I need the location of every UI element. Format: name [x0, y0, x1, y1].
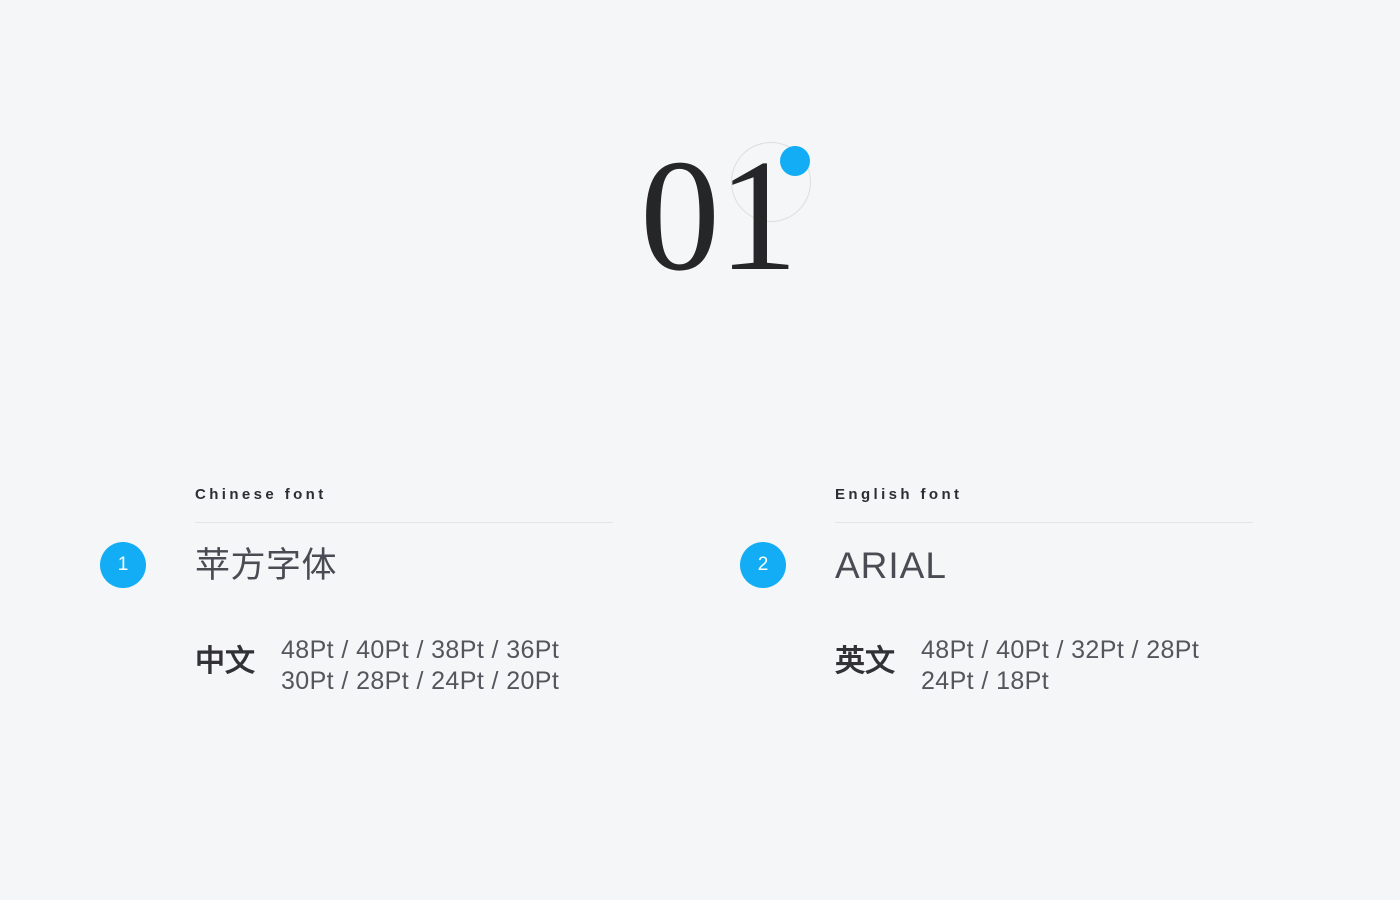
- size-label-english: 英文: [835, 635, 895, 682]
- hero-number-group: 01: [640, 130, 840, 300]
- column-kicker-english: English font: [835, 485, 1255, 505]
- size-list-chinese: 48Pt / 40Pt / 38Pt / 36Pt 30Pt / 28Pt / …: [281, 635, 559, 697]
- font-sample-chinese: 苹方字体: [195, 544, 615, 588]
- column-body-chinese: Chinese font 苹方字体: [195, 485, 615, 588]
- hero-section: 01: [0, 130, 1400, 300]
- column-kicker-chinese: Chinese font: [195, 485, 615, 505]
- size-row: 48Pt / 40Pt / 32Pt / 28Pt: [921, 635, 1199, 666]
- size-row: 30Pt / 28Pt / 24Pt / 20Pt: [281, 666, 559, 697]
- section-number: 01: [640, 130, 840, 300]
- accent-dot-icon: [780, 146, 810, 176]
- size-row: 24Pt / 18Pt: [921, 666, 1199, 697]
- size-label-chinese: 中文: [195, 635, 255, 682]
- column-badge-1: 1: [100, 542, 146, 588]
- size-list-english: 48Pt / 40Pt / 32Pt / 28Pt 24Pt / 18Pt: [921, 635, 1199, 697]
- column-badge-2: 2: [740, 542, 786, 588]
- column-divider-english: [835, 522, 1253, 523]
- column-body-english: English font ARIAL: [835, 485, 1255, 588]
- size-block-chinese: 中文 48Pt / 40Pt / 38Pt / 36Pt 30Pt / 28Pt…: [195, 635, 559, 697]
- size-block-english: 英文 48Pt / 40Pt / 32Pt / 28Pt 24Pt / 18Pt: [835, 635, 1199, 697]
- font-sample-english: ARIAL: [835, 544, 1255, 588]
- size-row: 48Pt / 40Pt / 38Pt / 36Pt: [281, 635, 559, 666]
- column-divider-chinese: [195, 522, 613, 523]
